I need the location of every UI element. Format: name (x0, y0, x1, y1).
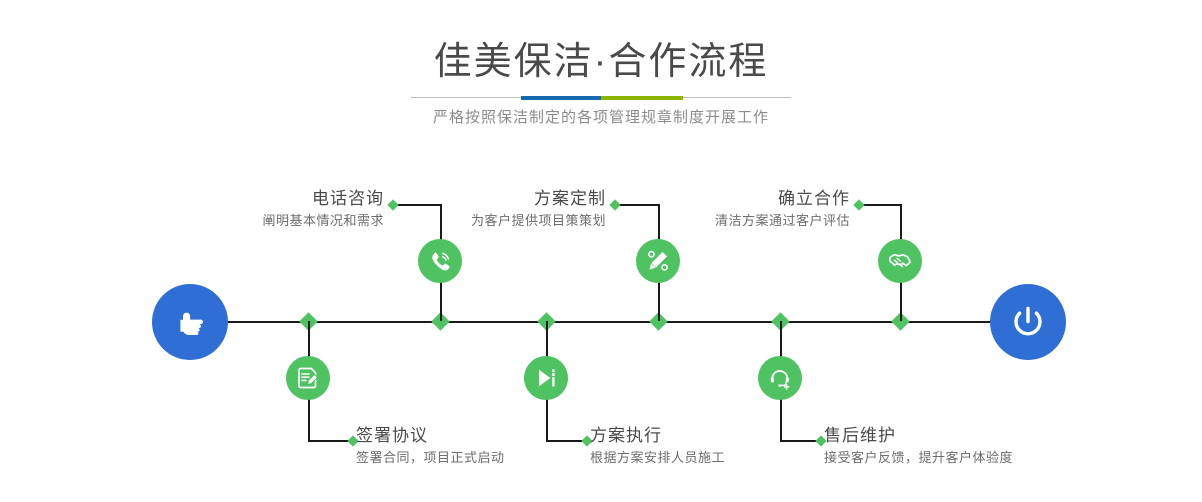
connector-horizontal-2 (308, 440, 352, 442)
step-desc-1: 阐明基本情况和需求 (140, 210, 384, 232)
connector-bullet-5 (853, 199, 864, 210)
divider-segment-green (601, 96, 683, 100)
page-subtitle: 严格按照保洁制定的各项管理规章制度开展工作 (0, 106, 1202, 130)
step-icon-2 (286, 356, 330, 400)
step-label-3: 方案定制 为客户提供项目策策划 (360, 188, 606, 232)
flow-diagram: 佳美保洁·合作流程 严格按照保洁制定的各项管理规章制度开展工作 (0, 0, 1202, 502)
step-icon-4 (524, 356, 568, 400)
step-icon-3 (636, 239, 680, 283)
end-endpoint (990, 284, 1066, 360)
step-desc-4: 根据方案安排人员施工 (590, 447, 860, 469)
page-title: 佳美保洁·合作流程 (0, 40, 1202, 84)
step-desc-5: 清洁方案通过客户评估 (610, 210, 850, 232)
step-label-5: 确立合作 清洁方案通过客户评估 (610, 188, 850, 232)
step-label-1: 电话咨询 阐明基本情况和需求 (140, 188, 384, 232)
step-desc-2: 签署合同，项目正式启动 (356, 447, 616, 469)
divider-segment-blue (521, 96, 601, 100)
step-label-6: 售后维护 接受客户反馈，提升客户体验度 (824, 425, 1124, 469)
connector-horizontal-4 (546, 440, 586, 442)
step-title-5: 确立合作 (610, 188, 850, 210)
title-divider (411, 96, 791, 100)
connector-horizontal-6 (780, 440, 820, 442)
step-title-2: 签署协议 (356, 425, 616, 447)
start-endpoint (152, 284, 228, 360)
step-icon-5 (878, 239, 922, 283)
step-label-2: 签署协议 签署合同，项目正式启动 (356, 425, 616, 469)
step-icon-1 (418, 239, 462, 283)
step-desc-6: 接受客户反馈，提升客户体验度 (824, 447, 1124, 469)
step-desc-3: 为客户提供项目策策划 (360, 210, 606, 232)
step-title-6: 售后维护 (824, 425, 1124, 447)
step-label-4: 方案执行 根据方案安排人员施工 (590, 425, 860, 469)
step-icon-6 (758, 356, 802, 400)
step-title-1: 电话咨询 (140, 188, 384, 210)
step-title-3: 方案定制 (360, 188, 606, 210)
